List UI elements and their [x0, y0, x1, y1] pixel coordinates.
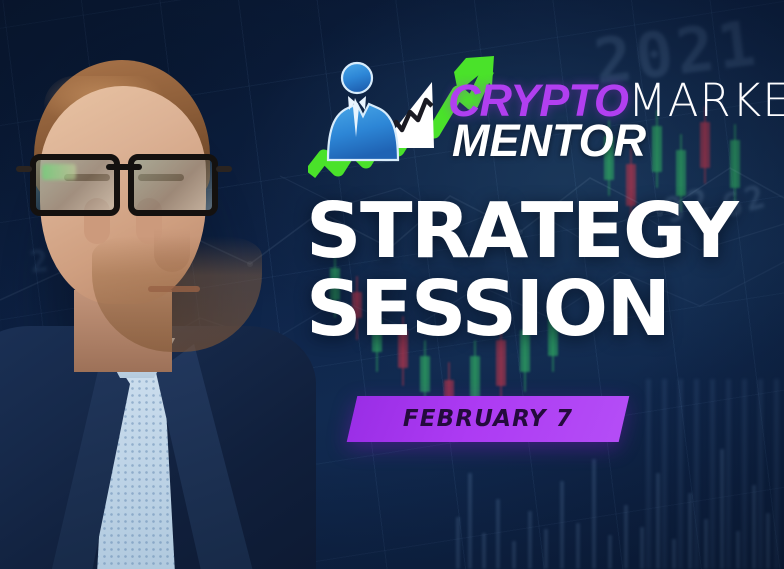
brand-market-text: MARKET [628, 74, 784, 127]
volume-bar [592, 459, 596, 569]
background-vertical-stripe [758, 379, 763, 569]
eyeglasses-icon [30, 154, 218, 206]
glasses-bridge [106, 164, 142, 170]
volume-bar [576, 523, 580, 569]
volume-bar [608, 535, 612, 569]
volume-bar [624, 505, 628, 569]
brand-mentor-text: MENTOR [452, 118, 646, 163]
volume-bar [752, 485, 756, 569]
glasses-temple-right [216, 166, 232, 172]
volume-bar [468, 473, 472, 569]
lens-left [30, 154, 120, 216]
headline-line-two: SESSION [306, 274, 766, 346]
volume-bar [496, 499, 500, 569]
lens-right [128, 154, 218, 216]
volume-bar [482, 533, 486, 569]
volume-bar [640, 527, 644, 569]
glasses-temple-left [16, 166, 32, 172]
presenter-portrait [0, 58, 286, 569]
background-vertical-stripe [710, 379, 715, 569]
volume-bar [544, 529, 548, 569]
volume-bar [736, 531, 740, 569]
volume-bar [704, 519, 708, 569]
brand-wordmark: CRYPTOMARKET MENTOR [448, 78, 778, 174]
background-vertical-stripe [726, 379, 731, 569]
date-banner: FEBRUARY 7 [347, 396, 630, 442]
headline-line-one: STRATEGY [306, 196, 766, 268]
date-banner-label: FEBRUARY 7 [352, 396, 624, 442]
volume-bar [766, 513, 770, 569]
headline-block: STRATEGY SESSION [306, 196, 766, 345]
background-vertical-stripe [774, 379, 779, 569]
background-vertical-stripe [678, 379, 683, 569]
volume-bar [456, 517, 460, 569]
volume-bar [656, 473, 660, 569]
volume-bar [512, 541, 516, 569]
volume-bar [720, 449, 724, 569]
brand-logo: CRYPTOMARKET MENTOR [308, 52, 778, 180]
background-vertical-stripe [742, 379, 747, 569]
background-vertical-stripe [646, 379, 651, 569]
volume-bar [688, 493, 692, 569]
background-vertical-stripe [694, 379, 699, 569]
promo-banner: 2021 92 62 21 [0, 0, 784, 569]
volume-bar [528, 511, 532, 569]
volume-bar [672, 539, 676, 569]
volume-bar [560, 481, 564, 569]
background-vertical-stripe [662, 379, 667, 569]
